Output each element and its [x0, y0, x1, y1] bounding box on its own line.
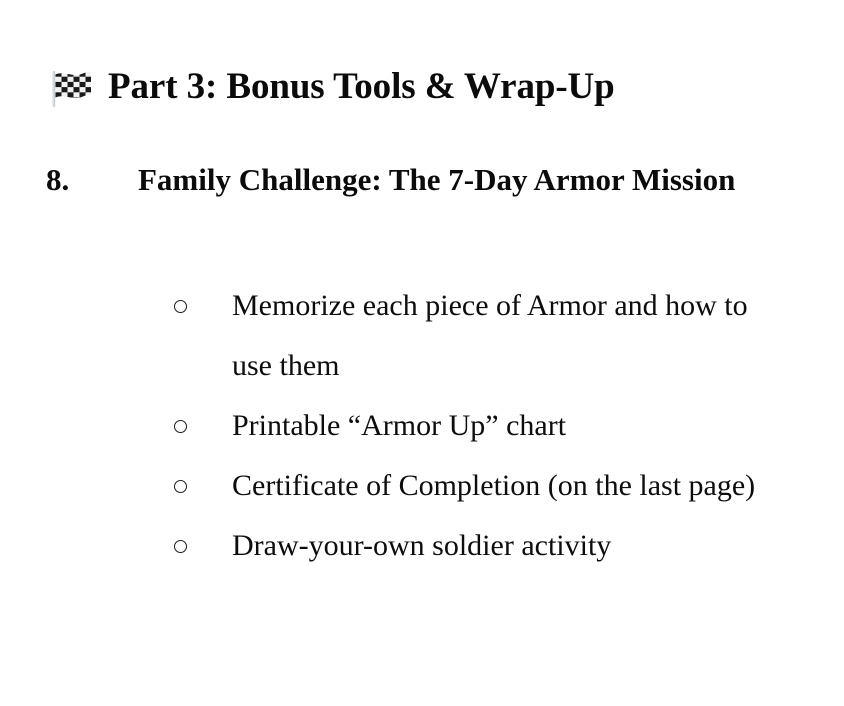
part-heading: Part 3: Bonus Tools & Wrap-Up [46, 62, 615, 112]
document-page: Part 3: Bonus Tools & Wrap-Up 8.Family C… [0, 0, 844, 706]
checkered-flag-icon [46, 63, 96, 113]
list-item: Memorize each piece of Armor and how to … [0, 276, 844, 396]
bullet-list: Memorize each piece of Armor and how to … [0, 276, 844, 576]
hollow-circle-bullet-icon [174, 516, 192, 576]
list-item: Draw-your-own soldier activity [0, 516, 844, 576]
part-heading-text: Part 3: Bonus Tools & Wrap-Up [108, 68, 615, 107]
list-number: 8. [46, 150, 138, 210]
list-item: Printable “Armor Up” chart [0, 396, 844, 456]
hollow-circle-bullet-icon [174, 456, 192, 516]
hollow-circle-bullet-icon [174, 396, 192, 456]
list-item-text: Printable “Armor Up” chart [232, 396, 784, 456]
numbered-heading-text: Family Challenge: The 7-Day Armor Missio… [138, 162, 735, 197]
list-item: Certificate of Completion (on the last p… [0, 456, 844, 516]
list-item-text: Memorize each piece of Armor and how to … [232, 276, 784, 396]
list-item-text: Draw-your-own soldier activity [232, 516, 784, 576]
numbered-heading: 8.Family Challenge: The 7-Day Armor Miss… [46, 150, 736, 210]
hollow-circle-bullet-icon [174, 276, 192, 336]
list-item-text: Certificate of Completion (on the last p… [232, 456, 784, 516]
